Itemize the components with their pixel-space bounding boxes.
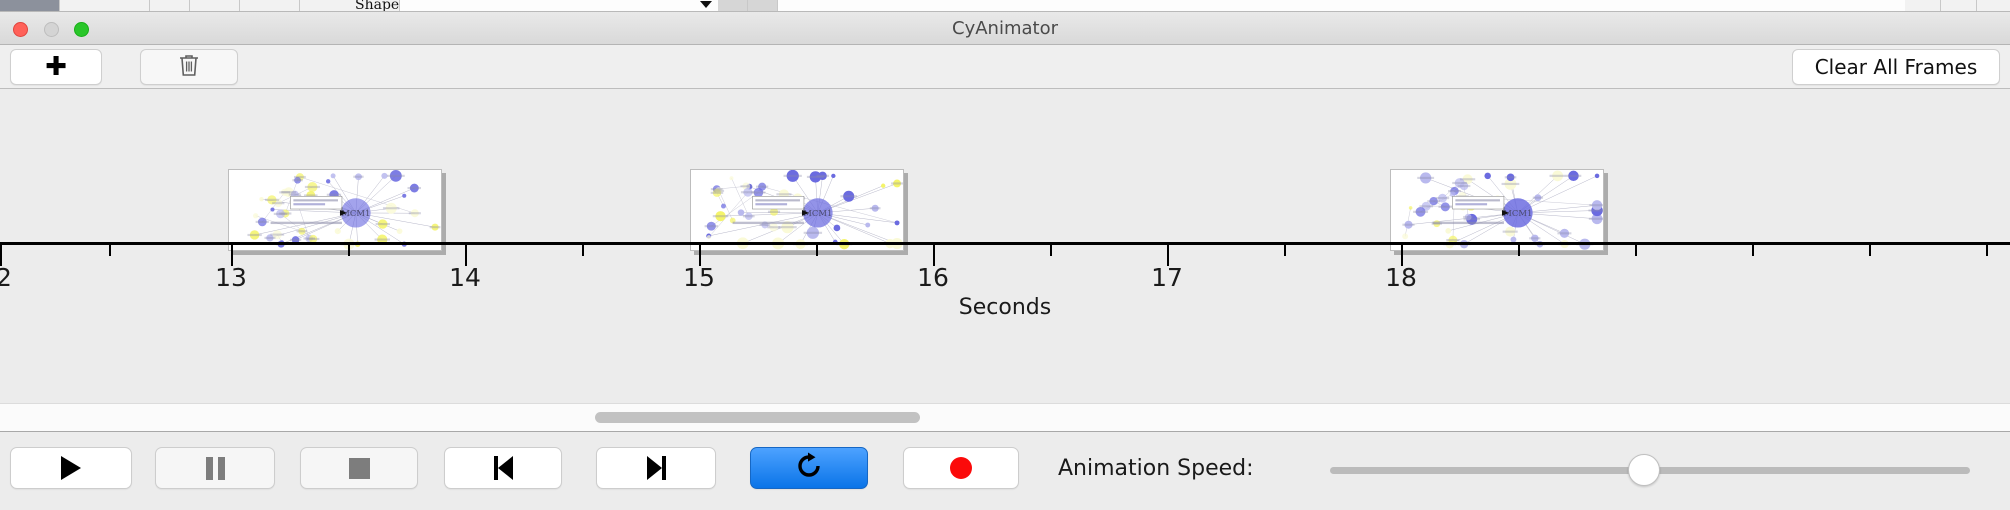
tick-label: 15	[683, 263, 715, 292]
plus-icon: ✚	[45, 54, 67, 80]
tick-minor	[582, 245, 584, 256]
skip-end-icon	[647, 456, 666, 480]
tick-label: 2	[0, 263, 12, 292]
tick-minor	[1752, 245, 1754, 256]
animation-speed-slider-thumb[interactable]	[1628, 454, 1660, 486]
bg-chip	[150, 0, 190, 12]
playback-toolbar: Animation Speed:	[0, 431, 2010, 510]
tick-label: 14	[449, 263, 481, 292]
skip-to-start-button[interactable]	[444, 447, 562, 489]
toolbar: ✚ Clear All Frames	[0, 45, 2010, 89]
bg-chip	[240, 0, 300, 12]
tick-minor	[1284, 245, 1286, 256]
cyanimator-window: Shape CyAnimator ✚ Clear	[0, 0, 2010, 510]
bg-chip	[1905, 0, 1941, 12]
tick-minor	[1518, 245, 1520, 256]
background-caret-icon	[700, 1, 712, 8]
tick-minor	[1986, 245, 1988, 256]
axis-title: Seconds	[0, 295, 2010, 320]
trash-icon	[178, 53, 200, 81]
tick-label: 13	[215, 263, 247, 292]
tick-minor	[816, 245, 818, 256]
frame-thumbnail[interactable]: MCM1	[228, 169, 442, 251]
tick-minor	[109, 245, 111, 256]
pause-icon	[206, 457, 225, 480]
tick-minor	[348, 245, 350, 256]
skip-to-end-button[interactable]	[596, 447, 716, 489]
record-button[interactable]	[903, 447, 1019, 489]
bg-chip	[748, 0, 778, 12]
play-button[interactable]	[10, 447, 132, 489]
play-icon	[61, 456, 81, 480]
titlebar: CyAnimator	[0, 12, 2010, 45]
window-title: CyAnimator	[0, 12, 2010, 45]
frame-thumbnail[interactable]: MCM1	[690, 169, 904, 251]
frame-thumbnail[interactable]: MCM1	[1390, 169, 1604, 251]
background-window-label: Shape	[355, 0, 399, 12]
skip-start-icon	[494, 456, 513, 480]
tick-label: 17	[1151, 263, 1183, 292]
loop-button[interactable]	[750, 447, 868, 489]
bg-chip	[1977, 0, 2010, 12]
tick-minor	[1869, 245, 1871, 256]
pause-button[interactable]	[155, 447, 275, 489]
bg-chip	[190, 0, 240, 12]
timeline-panel[interactable]: MCM1 MCM1 MCM1	[0, 89, 2010, 403]
tick-label: 18	[1385, 263, 1417, 292]
tick-minor	[1050, 245, 1052, 256]
stop-button[interactable]	[300, 447, 418, 489]
tick-minor	[1635, 245, 1637, 256]
background-window-sliver: Shape	[0, 0, 2010, 12]
tick-label: 16	[917, 263, 949, 292]
timeline-axis	[0, 242, 2010, 245]
loop-icon	[794, 451, 824, 485]
record-icon	[950, 457, 972, 479]
bg-chip	[60, 0, 150, 12]
scrollbar-thumb[interactable]	[595, 412, 920, 423]
delete-frame-button[interactable]	[140, 49, 238, 85]
horizontal-scrollbar[interactable]	[0, 403, 2010, 431]
bg-chip	[718, 0, 748, 12]
add-frame-button[interactable]: ✚	[10, 49, 102, 85]
animation-speed-label: Animation Speed:	[1058, 456, 1254, 481]
bg-chip	[0, 0, 60, 12]
stop-icon	[349, 458, 370, 479]
clear-all-frames-button[interactable]: Clear All Frames	[1792, 49, 2000, 85]
bg-chip	[1941, 0, 1977, 12]
